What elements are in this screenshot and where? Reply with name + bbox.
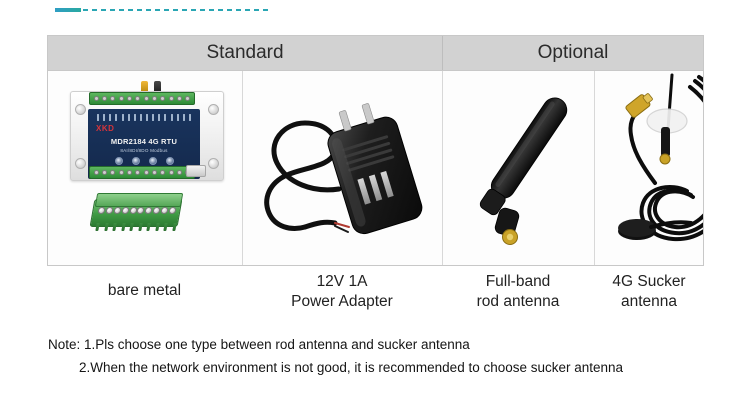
product-cell-bare-metal: XKD MDR2184 4G RTU 8AI/8DI/8DO Modbus (48, 71, 243, 265)
terminal-screw (169, 170, 174, 175)
power-adapter-illustration (243, 71, 442, 265)
terminal-screw (97, 207, 105, 214)
terminal-screw (185, 96, 190, 101)
pin-header-top (97, 114, 191, 121)
rtu-module-illustration: XKD MDR2184 4G RTU 8AI/8DI/8DO Modbus (48, 71, 242, 265)
terminal-screw (121, 207, 129, 214)
caption-sucker-antenna: 4G Sucker antenna (594, 272, 704, 312)
sma-connector-pin (507, 234, 513, 240)
antenna-connector-nut (660, 154, 670, 164)
pin (109, 114, 111, 121)
caption-line-1: 4G Sucker (594, 272, 704, 292)
product-cell-rod-antenna (443, 71, 595, 265)
sucker-antenna-svg (595, 71, 703, 265)
terminal-screw (110, 96, 115, 101)
terminal-pin (129, 223, 133, 231)
caption-power-adapter: 12V 1A Power Adapter (242, 272, 442, 312)
pin (115, 114, 117, 121)
screw-icon (208, 104, 219, 115)
terminal-connector-screws (97, 207, 176, 214)
terminal-screw (94, 96, 99, 101)
terminal-screw (113, 207, 121, 214)
led-icon (166, 157, 174, 165)
caption-rod-antenna: Full-band rod antenna (442, 272, 594, 312)
caption-line-2: rod antenna (442, 292, 594, 312)
terminal-pin (104, 223, 108, 231)
terminal-screw (168, 207, 176, 214)
header-cell-standard: Standard (48, 36, 443, 70)
product-cell-sucker-antenna (595, 71, 703, 265)
terminal-screw (127, 96, 132, 101)
terminal-screw (160, 207, 168, 214)
terminal-screw (135, 170, 140, 175)
terminal-screw (94, 170, 99, 175)
adapter-body-group (325, 114, 425, 236)
device-subtitle-label: 8AI/8DI/8DO Modbus (88, 148, 200, 153)
terminal-screw (105, 207, 113, 214)
terminal-screw (102, 170, 107, 175)
pin (134, 114, 136, 121)
terminal-pin (95, 223, 99, 231)
terminal-pin (172, 223, 176, 231)
terminal-screw (145, 207, 153, 214)
pin (177, 114, 179, 121)
terminal-screw (144, 96, 149, 101)
plug-prong (362, 103, 375, 124)
top-accent-rule (55, 8, 270, 12)
terminal-pin (121, 223, 125, 231)
terminal-screw (169, 96, 174, 101)
terminal-screw (110, 170, 115, 175)
terminal-pin (155, 223, 159, 231)
rod-antenna-body (487, 93, 572, 203)
notes-block: Note: 1.Pls choose one type between rod … (48, 333, 738, 379)
terminal-screw (119, 96, 124, 101)
device-model-label: MDR2184 4G RTU (88, 137, 200, 146)
terminal-screw (153, 207, 161, 214)
terminal-screw (152, 96, 157, 101)
antenna-base-sleeve (661, 127, 670, 157)
sucker-antenna-illustration (595, 71, 703, 265)
led-icon (115, 157, 123, 165)
pin (97, 114, 99, 121)
terminal-screw (129, 207, 137, 214)
rod-antenna-svg (443, 71, 595, 265)
product-captions-row: bare metal 12V 1A Power Adapter Full-ban… (47, 272, 704, 312)
terminal-pin (147, 223, 151, 231)
led-indicator-group (88, 157, 200, 165)
terminal-screw (160, 170, 165, 175)
usb-port-icon (186, 165, 206, 177)
terminal-pin (164, 223, 168, 231)
terminal-screw (144, 170, 149, 175)
terminal-block-top (89, 92, 195, 105)
plug-prong (339, 110, 352, 131)
screw-icon (75, 104, 86, 115)
led-icon (132, 157, 140, 165)
terminal-screw (135, 96, 140, 101)
pin (183, 114, 185, 121)
rod-antenna-illustration (443, 71, 594, 265)
pin (140, 114, 142, 121)
terminal-connector-top (95, 193, 183, 207)
led-icon (149, 157, 157, 165)
caption-line-1: bare metal (47, 281, 242, 301)
pin (164, 114, 166, 121)
pin (122, 114, 124, 121)
terminal-screw (160, 96, 165, 101)
pin (152, 114, 154, 121)
caption-line-2: antenna (594, 292, 704, 312)
screw-icon (208, 158, 219, 169)
header-cell-optional: Optional (443, 36, 703, 70)
caption-bare-metal: bare metal (47, 272, 242, 312)
terminal-block-bottom (89, 166, 195, 179)
table-body-row: XKD MDR2184 4G RTU 8AI/8DI/8DO Modbus (48, 71, 703, 265)
terminal-pin (112, 223, 116, 231)
product-cell-power-adapter (243, 71, 443, 265)
pin (146, 114, 148, 121)
pin (103, 114, 105, 121)
terminal-pin (138, 223, 142, 231)
caption-line-1: 12V 1A (242, 272, 442, 292)
terminal-screw (177, 96, 182, 101)
brand-logo-text: XKD (96, 124, 114, 133)
note-line-1: Note: 1.Pls choose one type between rod … (48, 333, 738, 356)
terminal-screw (152, 170, 157, 175)
pin (158, 114, 160, 121)
pin (128, 114, 130, 121)
accessory-spec-table: Standard Optional (47, 35, 704, 266)
terminal-screw (177, 170, 182, 175)
terminal-screw (127, 170, 132, 175)
rtu-device-body: XKD MDR2184 4G RTU 8AI/8DI/8DO Modbus (70, 83, 222, 188)
terminal-screw (102, 96, 107, 101)
table-header-row: Standard Optional (48, 36, 703, 71)
terminal-connector-part (90, 189, 182, 233)
caption-line-1: Full-band (442, 272, 594, 292)
terminal-screw (119, 170, 124, 175)
accent-dashed-segment (83, 9, 270, 11)
terminal-screw (137, 207, 145, 214)
power-adapter-svg (243, 71, 443, 265)
note-line-2: 2.When the network environment is not go… (48, 356, 738, 379)
screw-icon (75, 158, 86, 169)
rtu-housing: XKD MDR2184 4G RTU 8AI/8DI/8DO Modbus (70, 91, 224, 181)
caption-line-2: Power Adapter (242, 292, 442, 312)
terminal-connector-pins (95, 223, 176, 231)
accent-solid-segment (55, 8, 81, 12)
rod-antenna-body-group (487, 93, 572, 203)
adapter-cable-tail (305, 222, 335, 227)
pin (171, 114, 173, 121)
pin (189, 114, 191, 121)
